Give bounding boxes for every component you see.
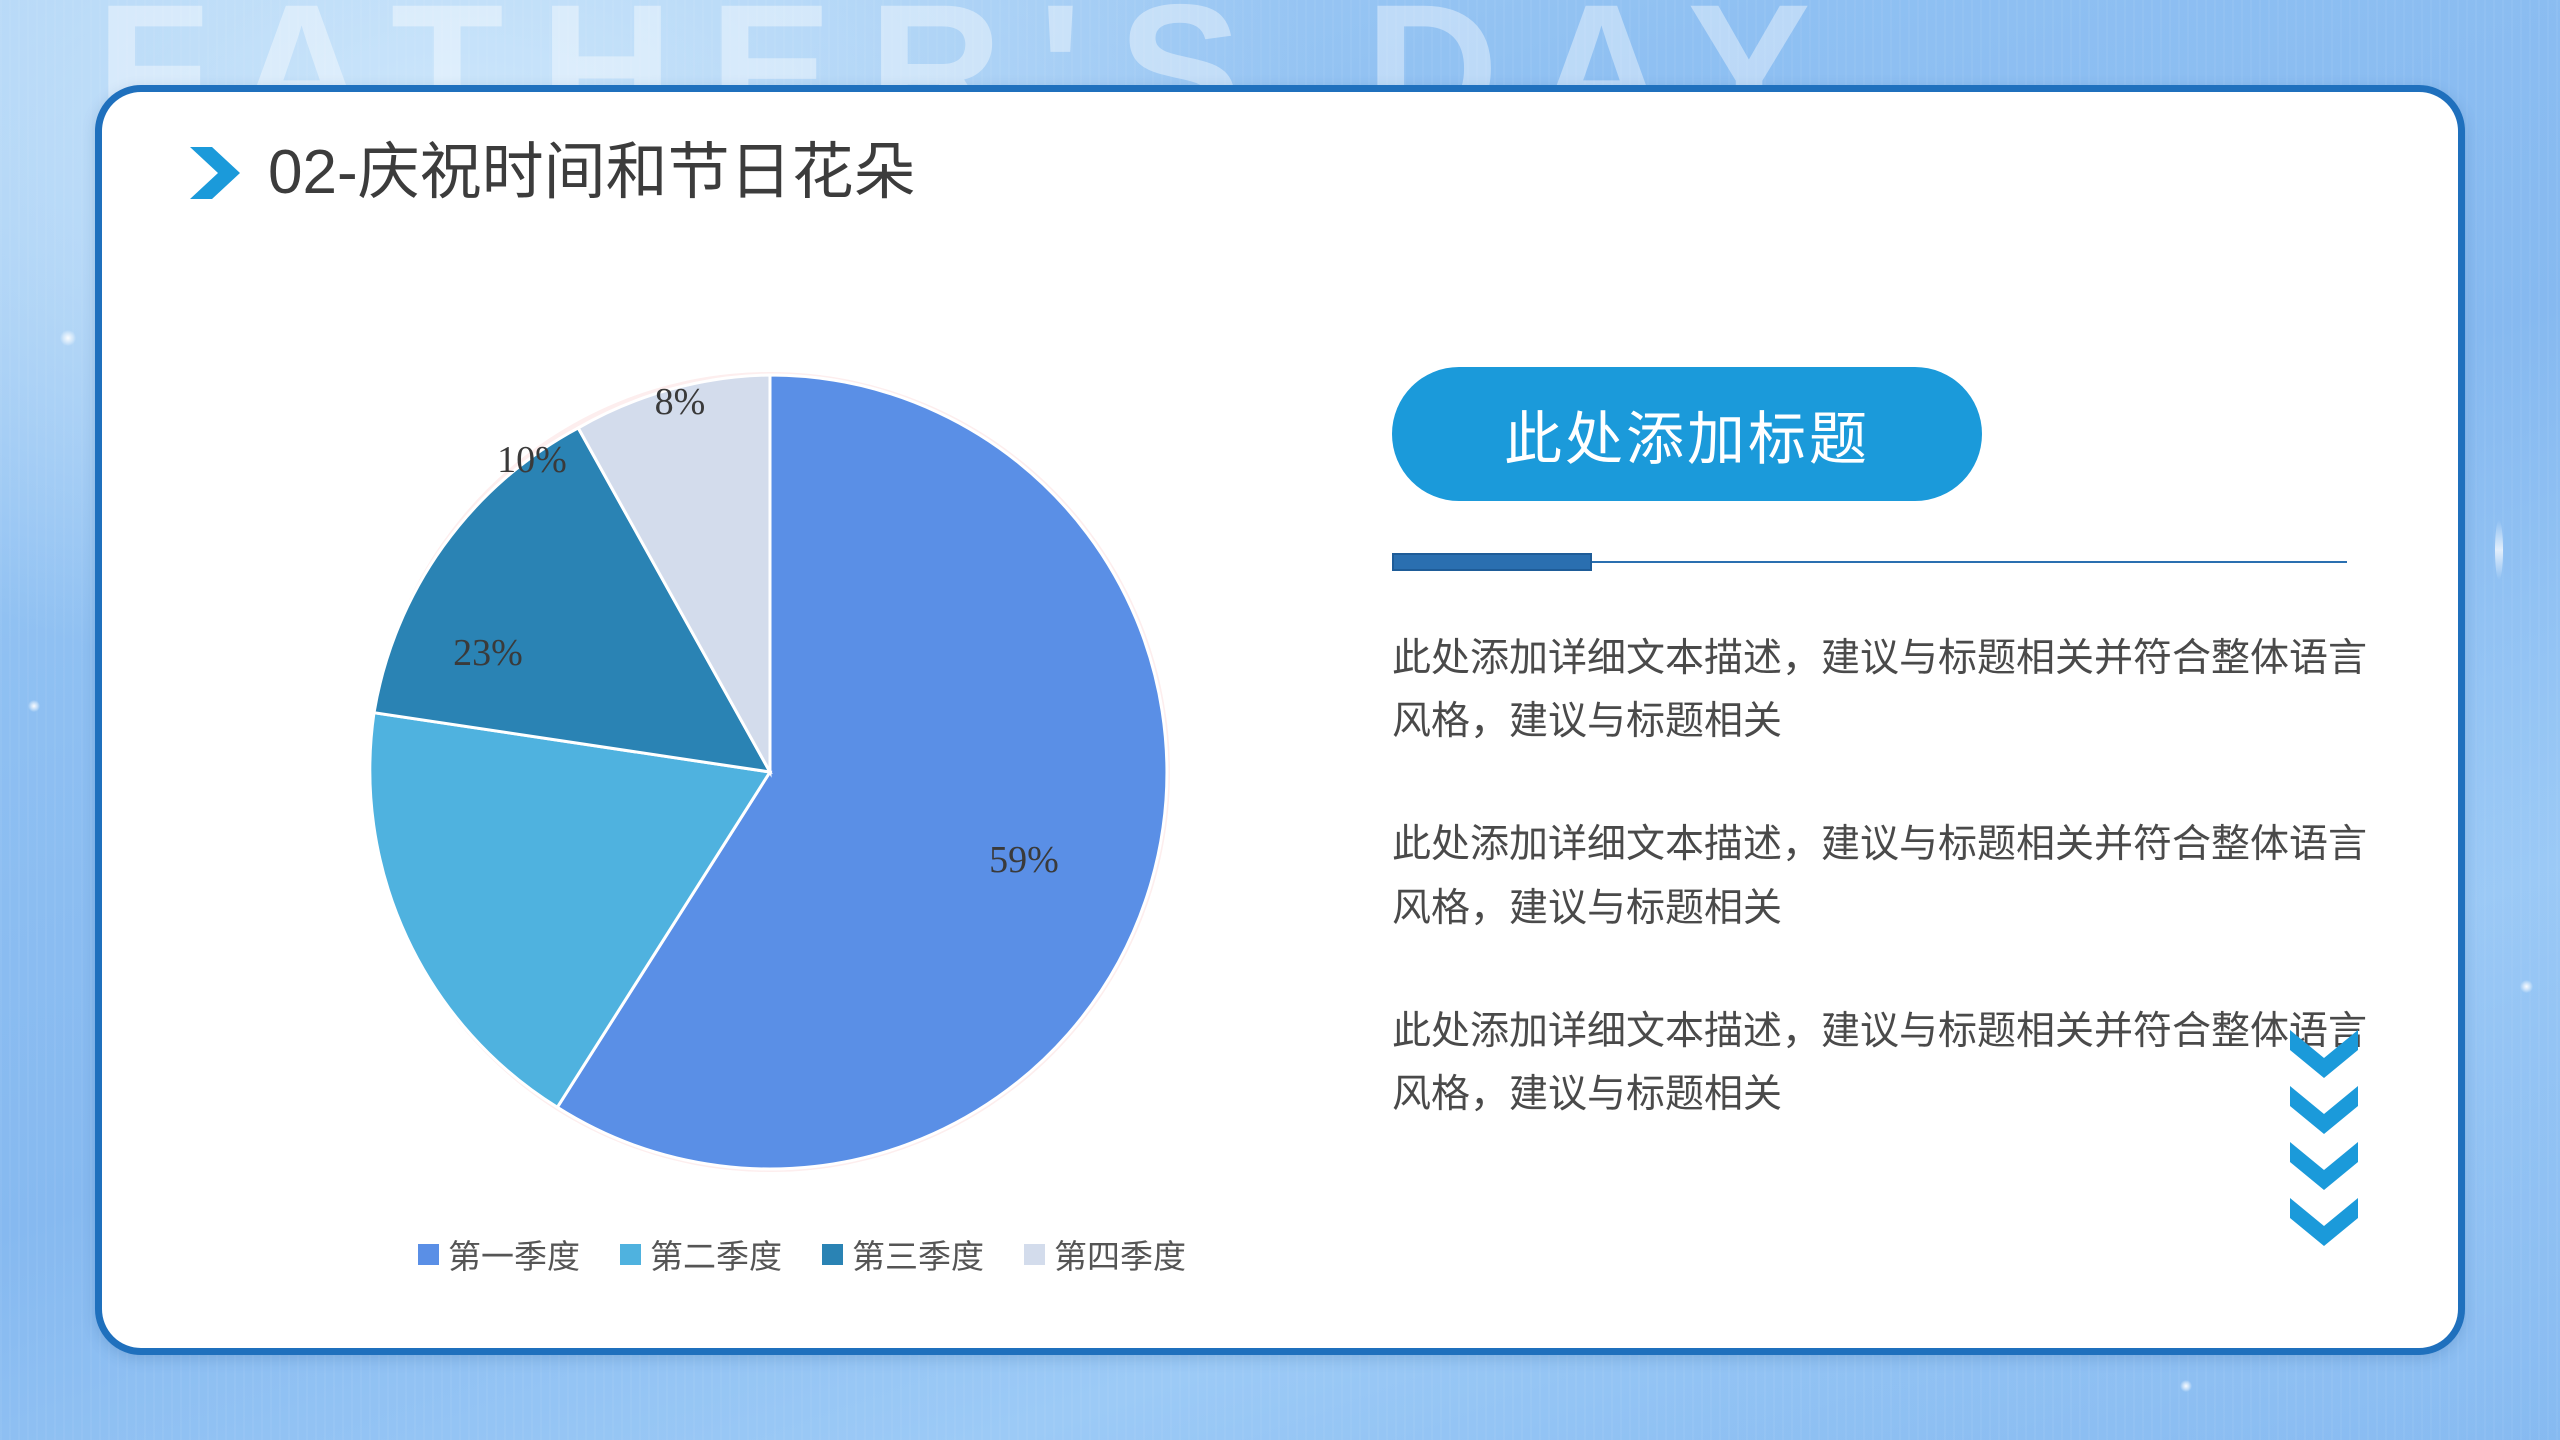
body-paragraph: 此处添加详细文本描述，建议与标题相关并符合整体语言风格，建议与标题相关 [1392,813,2402,939]
legend-item[interactable]: 第一季度 [418,1230,580,1278]
body-paragraph: 此处添加详细文本描述，建议与标题相关并符合整体语言风格，建议与标题相关 [1392,1000,2402,1126]
legend-swatch-icon [620,1244,641,1265]
pie-label-4: 8% [655,381,706,423]
pie-chart-svg: 59% 23% 10% 8% [360,362,1180,1182]
sparkle-particle [2180,1380,2192,1392]
sparkle-streak [2495,520,2503,580]
pie-label-3: 10% [497,439,567,481]
chevron-right-icon [188,143,242,203]
legend-item[interactable]: 第四季度 [1024,1230,1186,1278]
legend-item[interactable]: 第二季度 [620,1230,782,1278]
legend-swatch-icon [418,1244,439,1265]
page-title: 02-庆祝时间和节日花朵 [188,142,916,204]
sparkle-particle [2520,980,2533,993]
section-title-badge[interactable]: 此处添加标题 [1392,367,1982,501]
sparkle-particle [28,700,40,712]
chevron-down-icon [2288,1140,2360,1192]
legend-item-label: 第四季度 [1054,1230,1186,1278]
legend-item-label: 第二季度 [650,1230,782,1278]
legend-swatch-icon [822,1244,843,1265]
divider-accent-bar [1392,553,1592,571]
legend-item-label: 第三季度 [852,1230,984,1278]
pie-label-2: 23% [453,632,523,674]
sparkle-particle [60,330,76,346]
right-content-column: 此处添加标题 此处添加详细文本描述，建议与标题相关并符合整体语言风格，建议与标题… [1392,367,2392,1126]
chevron-down-icon [2288,1028,2360,1080]
chevron-stack-decoration [2288,1028,2360,1248]
legend-item[interactable]: 第三季度 [822,1230,984,1278]
section-divider [1392,553,2347,571]
pie-chart-panel: 59% 23% 10% 8% 第一季度第二季度第三季度第四季度 [282,362,1322,1302]
legend-swatch-icon [1024,1244,1045,1265]
content-card: 02-庆祝时间和节日花朵 59% 23% [95,85,2465,1355]
page-title-text: 02-庆祝时间和节日花朵 [268,142,916,204]
chevron-down-icon [2288,1084,2360,1136]
pie-chart: 59% 23% 10% 8% [360,362,1180,1182]
slide-canvas: FATHER'S DAY 02-庆祝时间和节日花朵 [0,0,2560,1440]
chart-legend: 第一季度第二季度第三季度第四季度 [282,1230,1322,1278]
chevron-down-icon [2288,1196,2360,1248]
legend-item-label: 第一季度 [448,1230,580,1278]
body-paragraph: 此处添加详细文本描述，建议与标题相关并符合整体语言风格，建议与标题相关 [1392,627,2402,753]
pie-label-1: 59% [989,839,1059,881]
